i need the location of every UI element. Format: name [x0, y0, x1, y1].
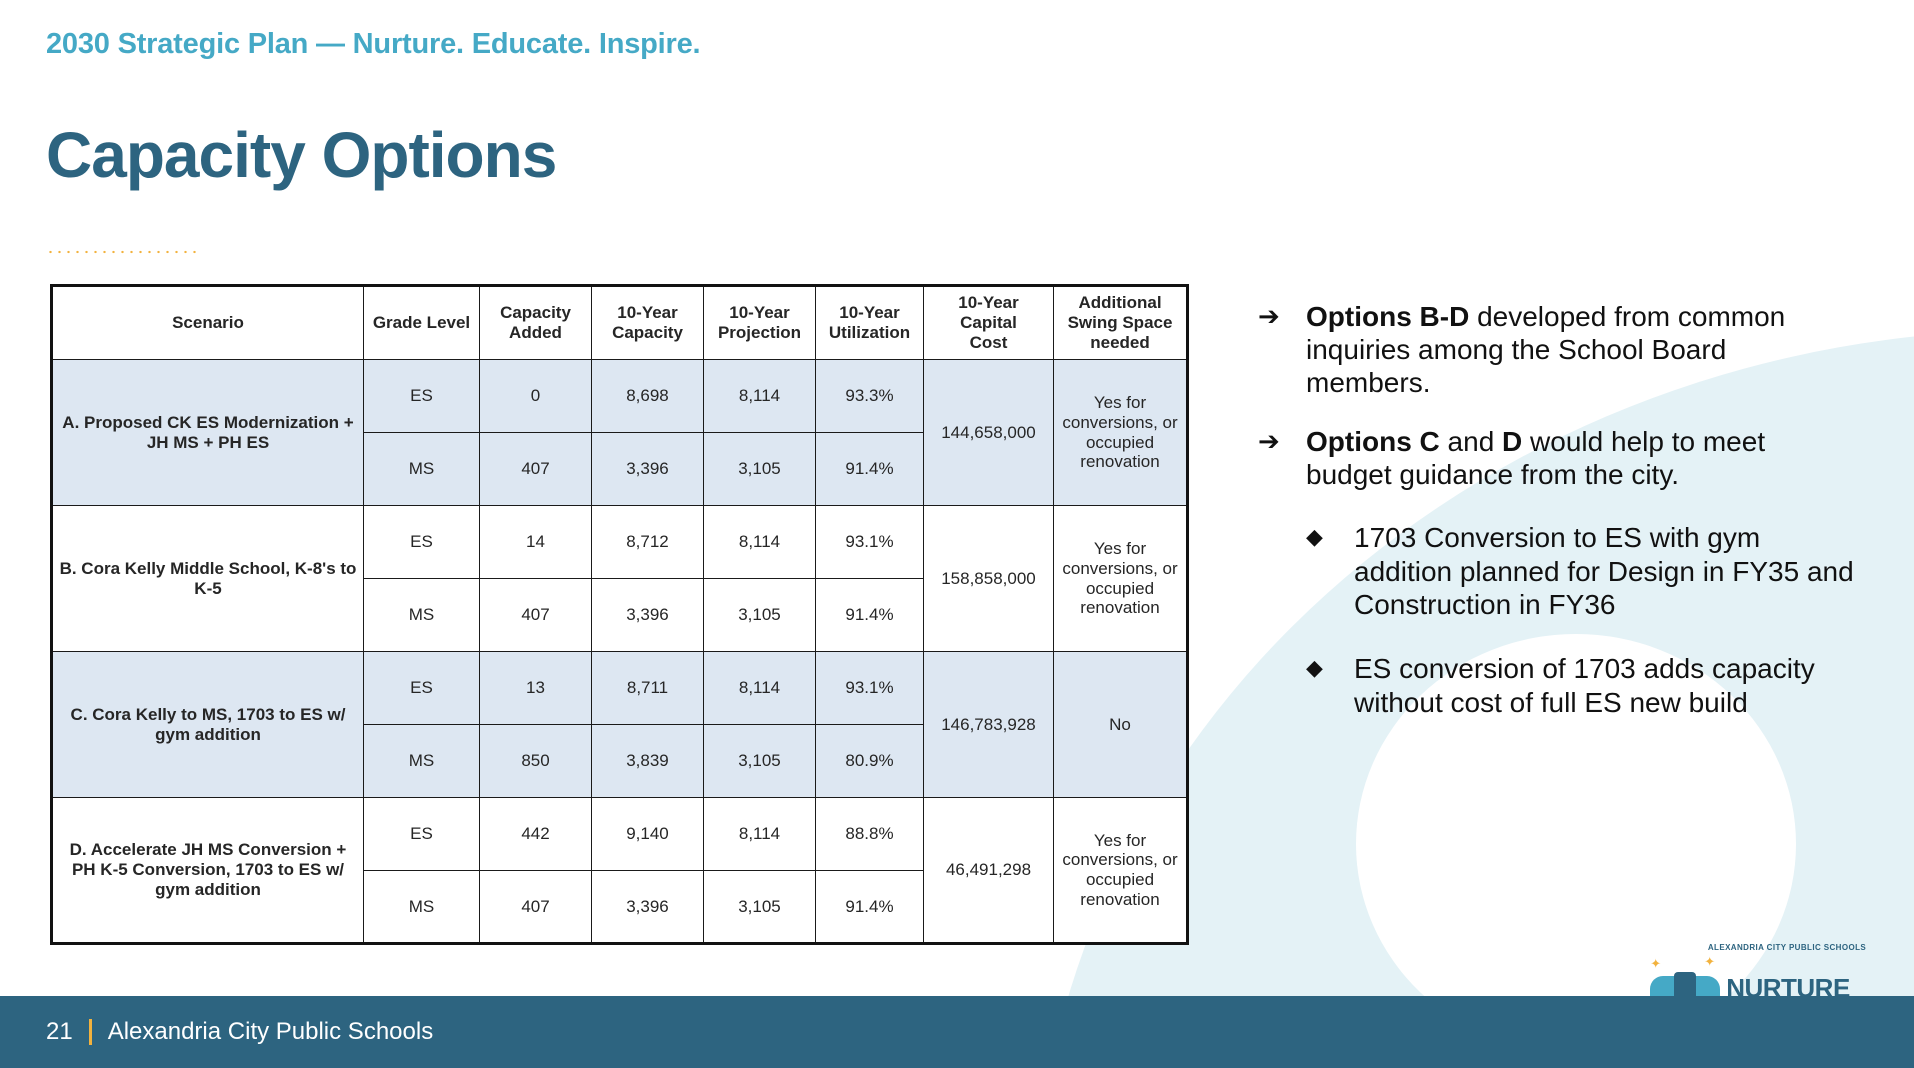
cell-10yr-capacity: 9,140	[592, 798, 704, 871]
cell-scenario: C. Cora Kelly to MS, 1703 to ES w/ gym a…	[52, 652, 364, 798]
cell-capacity-added: 850	[480, 725, 592, 798]
sparkle-icon: ✦	[1704, 954, 1715, 970]
cell-10yr-capacity: 8,712	[592, 506, 704, 579]
slide-footer: 21 Alexandria City Public Schools	[0, 996, 1914, 1068]
hdr-line: 10-Year	[729, 303, 790, 322]
slide: 2030 Strategic Plan — Nurture. Educate. …	[0, 0, 1914, 1068]
hdr-line: Added	[509, 323, 562, 342]
cell-10yr-capacity: 3,396	[592, 579, 704, 652]
note-subbullet-1-text: 1703 Conversion to ES with gym addition …	[1354, 521, 1858, 622]
hdr-line: 10-Year	[617, 303, 678, 322]
cell-capital-cost: 46,491,298	[924, 798, 1054, 944]
cell-grade-level: ES	[364, 652, 480, 725]
cell-grade-level: MS	[364, 871, 480, 944]
note-1-bold: Options B-D	[1306, 301, 1469, 332]
cell-capacity-added: 407	[480, 871, 592, 944]
col-header-scenario: Scenario	[52, 286, 364, 360]
cell-10yr-projection: 8,114	[704, 506, 816, 579]
cell-capacity-added: 0	[480, 360, 592, 433]
footer-divider	[89, 1019, 92, 1045]
table-row[interactable]: B. Cora Kelly Middle School, K-8's to K-…	[52, 506, 1188, 579]
col-header-10yr-projection: 10-Year Projection	[704, 286, 816, 360]
cell-10yr-projection: 3,105	[704, 433, 816, 506]
cell-capacity-added: 13	[480, 652, 592, 725]
arrow-icon: ➔	[1258, 300, 1306, 399]
cell-10yr-projection: 3,105	[704, 725, 816, 798]
cell-capacity-added: 14	[480, 506, 592, 579]
cell-10yr-projection: 8,114	[704, 652, 816, 725]
cell-swing-space: Yes for conversions, or occupied renovat…	[1054, 360, 1188, 506]
cell-10yr-projection: 8,114	[704, 360, 816, 433]
note-subbullet-2: ◆ ES conversion of 1703 adds capacity wi…	[1306, 652, 1858, 719]
cell-swing-space: Yes for conversions, or occupied renovat…	[1054, 798, 1188, 944]
sparkle-icon: ✦	[1650, 956, 1661, 972]
note-subbullet-1: ◆ 1703 Conversion to ES with gym additio…	[1306, 521, 1858, 622]
table-body: A. Proposed CK ES Modernization + JH MS …	[52, 360, 1188, 944]
cell-10yr-utilization: 88.8%	[816, 798, 924, 871]
col-header-10yr-capital-cost: 10-Year Capital Cost	[924, 286, 1054, 360]
cell-10yr-utilization: 93.3%	[816, 360, 924, 433]
cell-capacity-added: 407	[480, 433, 592, 506]
note-bullet-1: ➔ Options B-D developed from common inqu…	[1258, 300, 1858, 399]
dotted-rule	[46, 250, 196, 254]
hdr-line: Projection	[718, 323, 801, 342]
cell-10yr-utilization: 93.1%	[816, 506, 924, 579]
note-2-bold-a: Options C	[1306, 426, 1440, 457]
cell-10yr-utilization: 93.1%	[816, 652, 924, 725]
logo-district-name: ALEXANDRIA CITY PUBLIC SCHOOLS	[1700, 943, 1874, 952]
capacity-table-wrap: Scenario Grade Level Capacity Added 10-Y…	[50, 284, 1189, 945]
note-bullet-2-text: Options C and D would help to meet budge…	[1306, 425, 1858, 491]
col-header-additional-swing-space: Additional Swing Space needed	[1054, 286, 1188, 360]
cell-10yr-projection: 8,114	[704, 798, 816, 871]
note-bullet-2: ➔ Options C and D would help to meet bud…	[1258, 425, 1858, 491]
cell-grade-level: MS	[364, 579, 480, 652]
hdr-line: Capacity	[500, 303, 571, 322]
cell-scenario: D. Accelerate JH MS Conversion + PH K-5 …	[52, 798, 364, 944]
cell-capital-cost: 158,858,000	[924, 506, 1054, 652]
col-header-10yr-capacity: 10-Year Capacity	[592, 286, 704, 360]
hdr-line: Additional	[1078, 293, 1161, 312]
cell-grade-level: MS	[364, 725, 480, 798]
cell-10yr-utilization: 91.4%	[816, 579, 924, 652]
cell-swing-space: No	[1054, 652, 1188, 798]
table-row[interactable]: D. Accelerate JH MS Conversion + PH K-5 …	[52, 798, 1188, 871]
hdr-line: Capacity	[612, 323, 683, 342]
note-2-bold-b: D	[1502, 426, 1522, 457]
cell-10yr-capacity: 8,711	[592, 652, 704, 725]
cell-scenario: B. Cora Kelly Middle School, K-8's to K-…	[52, 506, 364, 652]
diamond-icon: ◆	[1306, 521, 1354, 622]
table-row[interactable]: C. Cora Kelly to MS, 1703 to ES w/ gym a…	[52, 652, 1188, 725]
cell-10yr-projection: 3,105	[704, 871, 816, 944]
footer-organization: Alexandria City Public Schools	[108, 1018, 434, 1046]
arrow-icon: ➔	[1258, 425, 1306, 491]
cell-grade-level: ES	[364, 798, 480, 871]
cell-grade-level: ES	[364, 506, 480, 579]
cell-10yr-utilization: 91.4%	[816, 433, 924, 506]
cell-scenario: A. Proposed CK ES Modernization + JH MS …	[52, 360, 364, 506]
hdr-line: 10-Year	[839, 303, 900, 322]
slide-kicker: 2030 Strategic Plan — Nurture. Educate. …	[46, 28, 700, 61]
cell-capacity-added: 407	[480, 579, 592, 652]
diamond-icon: ◆	[1306, 652, 1354, 719]
cell-10yr-capacity: 3,396	[592, 433, 704, 506]
hdr-line: Utilization	[829, 323, 910, 342]
cell-10yr-utilization: 91.4%	[816, 871, 924, 944]
capacity-options-table: Scenario Grade Level Capacity Added 10-Y…	[50, 284, 1189, 945]
col-header-grade-level: Grade Level	[364, 286, 480, 360]
note-subbullet-2-text: ES conversion of 1703 adds capacity with…	[1354, 652, 1858, 719]
cell-10yr-utilization: 80.9%	[816, 725, 924, 798]
note-subbullets: ◆ 1703 Conversion to ES with gym additio…	[1306, 521, 1858, 719]
cell-grade-level: MS	[364, 433, 480, 506]
table-row[interactable]: A. Proposed CK ES Modernization + JH MS …	[52, 360, 1188, 433]
col-header-10yr-utilization: 10-Year Utilization	[816, 286, 924, 360]
cell-grade-level: ES	[364, 360, 480, 433]
page-title: Capacity Options	[46, 118, 556, 192]
col-header-capacity-added: Capacity Added	[480, 286, 592, 360]
hdr-line: Cost	[970, 333, 1008, 352]
cell-swing-space: Yes for conversions, or occupied renovat…	[1054, 506, 1188, 652]
note-bullet-1-text: Options B-D developed from common inquir…	[1306, 300, 1858, 399]
hdr-line: 10-Year Capital	[958, 293, 1019, 332]
note-2-mid: and	[1440, 426, 1502, 457]
cell-10yr-capacity: 3,396	[592, 871, 704, 944]
hdr-line: needed	[1090, 333, 1150, 352]
cell-capital-cost: 144,658,000	[924, 360, 1054, 506]
cell-10yr-capacity: 3,839	[592, 725, 704, 798]
notes-panel: ➔ Options B-D developed from common inqu…	[1258, 300, 1858, 719]
cell-capital-cost: 146,783,928	[924, 652, 1054, 798]
cell-capacity-added: 442	[480, 798, 592, 871]
page-number: 21	[46, 1018, 73, 1046]
hdr-line: Swing Space	[1068, 313, 1173, 332]
cell-10yr-capacity: 8,698	[592, 360, 704, 433]
table-header-row: Scenario Grade Level Capacity Added 10-Y…	[52, 286, 1188, 360]
cell-10yr-projection: 3,105	[704, 579, 816, 652]
